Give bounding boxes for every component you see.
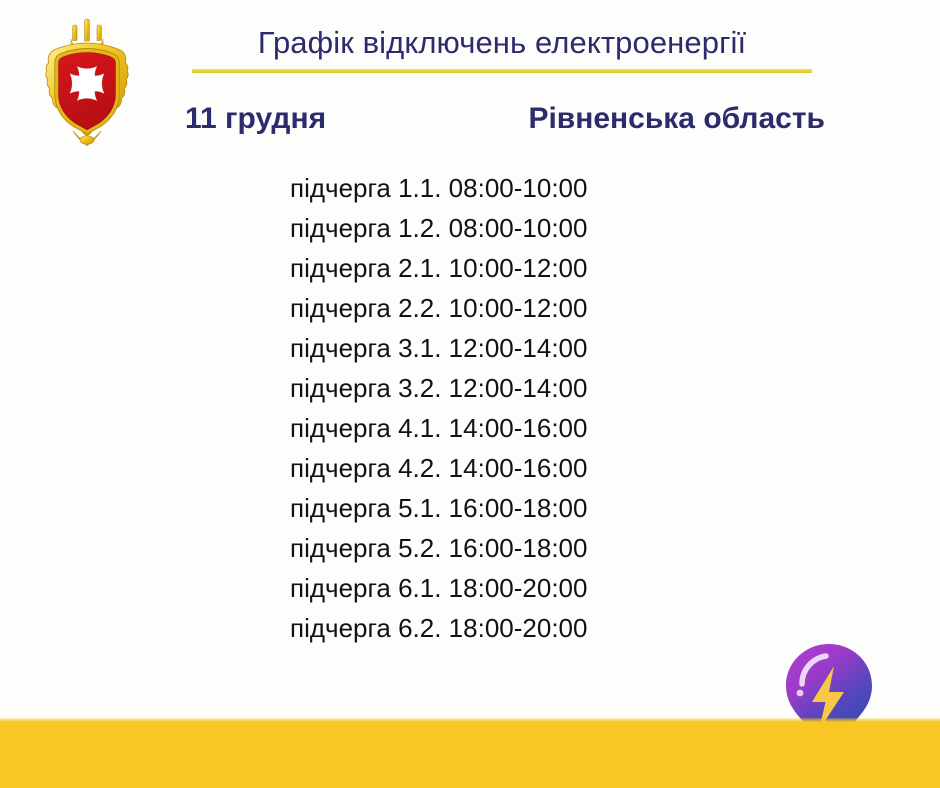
- schedule-row: підчерга 1.2. 08:00-10:00: [290, 208, 690, 248]
- schedule-row: підчерга 1.1. 08:00-10:00: [290, 168, 690, 208]
- schedule-row: підчерга 3.2. 12:00-14:00: [290, 368, 690, 408]
- schedule-row: підчерга 4.1. 14:00-16:00: [290, 408, 690, 448]
- subheader-row: 11 грудня Рівненська область: [185, 102, 825, 142]
- schedule-row: підчерга 2.2. 10:00-12:00: [290, 288, 690, 328]
- page-title: Графік відключень електроенергії: [192, 26, 812, 60]
- schedule-row: підчерга 5.2. 16:00-18:00: [290, 528, 690, 568]
- date-label: 11 грудня: [185, 102, 326, 136]
- title-block: Графік відключень електроенергії: [192, 26, 812, 73]
- schedule-row: підчерга 2.1. 10:00-12:00: [290, 248, 690, 288]
- schedule-row: підчерга 6.2. 18:00-20:00: [290, 608, 690, 648]
- schedule-row: підчерга 6.1. 18:00-20:00: [290, 568, 690, 608]
- schedule-list: підчерга 1.1. 08:00-10:00 підчерга 1.2. …: [290, 168, 690, 648]
- rivne-oblast-coat-of-arms-icon: [33, 13, 141, 153]
- title-underline-rule: [192, 69, 812, 73]
- schedule-row: підчерга 3.1. 12:00-14:00: [290, 328, 690, 368]
- bottom-yellow-bar: [0, 722, 940, 788]
- region-label: Рівненська область: [528, 102, 825, 136]
- schedule-row: підчерга 5.1. 16:00-18:00: [290, 488, 690, 528]
- schedule-row: підчерга 4.2. 14:00-16:00: [290, 448, 690, 488]
- schedule-slide: Графік відключень електроенергії 11 груд…: [0, 0, 940, 788]
